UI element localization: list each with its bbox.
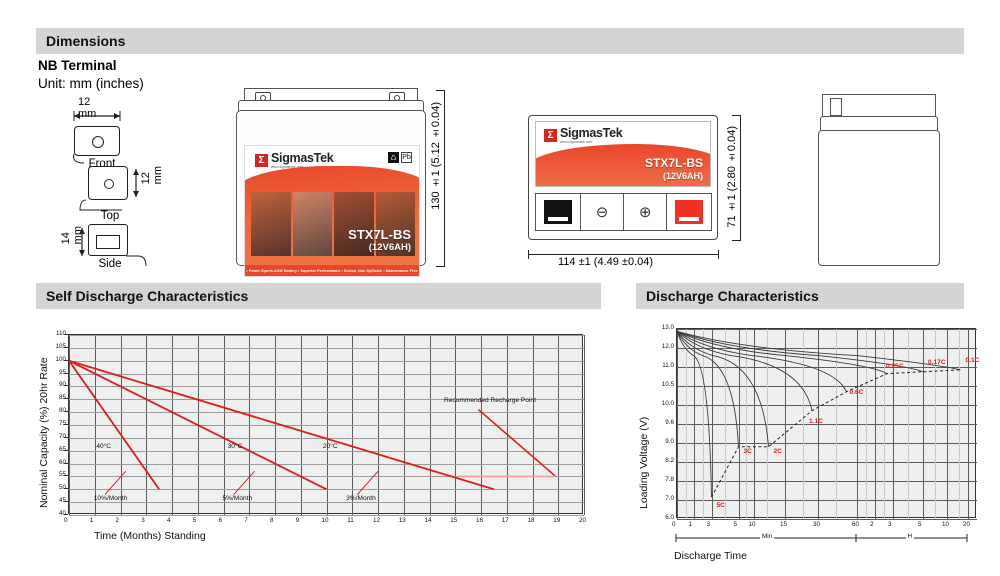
y-tick-mark [64,398,68,399]
terminal-top-hole [104,179,114,189]
discharge-ylabel: Loading Voltage (V) [638,344,650,509]
x-tick-label: 11 [347,517,354,524]
x-tick-label: 2 [116,517,120,524]
self-discharge-ylabel: Nominal Capacity (%) 20hr Rate [38,338,50,508]
top-model: STX7L-BS [645,156,703,170]
y-tick-mark [64,488,68,489]
y-tick-label: 9.0 [656,438,674,445]
top-terminal-row: ⊖ ⊕ [535,193,711,231]
x-tick-label: 4 [167,517,171,524]
rate-label-0-1C: 0.1C [966,357,980,364]
sigma-icon: Σ [255,154,268,167]
battery-model: STX7L-BS [348,227,411,242]
battery-width-label: 114 ±1 (4.49 ±0.04) [558,256,653,268]
battery-label: Σ SigmasTek www.sigmastek.com ♺ Pb STX7L… [244,145,420,277]
y-tick-label: 8.2 [656,457,674,464]
gridline-horizontal [69,515,584,516]
x-tick-label: 1 [90,517,94,524]
unit-label: Unit: mm (inches) [38,76,144,91]
self-discharge-plot-area [68,334,583,514]
chart-annotation: Recommended Recharge Point [444,397,536,404]
y-tick-mark [64,347,68,348]
x-tick-label: 60 [852,521,859,528]
terminal-top-shape [88,166,128,200]
positive-terminal-cap [675,200,703,224]
x-tick-label: 15 [780,521,787,528]
battery-depth-label: 71 ±1 (2.80 ±0.04) [726,126,738,228]
terminal-side-label: Side [88,258,132,270]
battery-capacity: (12V6AH) [348,243,411,254]
discharge-plot-area [676,328,976,518]
y-tick-label: 13.0 [656,324,674,331]
negative-terminal-cap-cell [535,193,581,231]
y-tick-mark [64,514,68,515]
y-tick-label: 7.0 [656,495,674,502]
battery-top-view: Σ SigmasTek www.sigmastek.com STX7L-BS (… [528,115,718,240]
x-tick-label: 3 [141,517,145,524]
time-scale-label: Min [760,533,774,540]
x-tick-label: 12 [373,517,380,524]
battery-side-view [818,88,940,266]
x-tick-label: 5 [734,521,738,528]
nb-terminal-title: NB Terminal [38,58,117,73]
negative-terminal-cap [544,200,572,224]
y-tick-label: 10.0 [656,400,674,407]
x-tick-label: 5 [918,521,922,528]
y-tick-mark [64,501,68,502]
x-tick-label: 13 [399,517,406,524]
y-tick-mark [64,424,68,425]
negative-icon: ⊖ [596,203,609,221]
y-tick-label: 12.0 [656,343,674,350]
rate-label-1-1C: 1.1C [809,418,823,425]
gridline-horizontal [677,519,977,520]
top-brand-url: www.sigmastek.com [560,140,622,144]
x-tick-label: 3 [888,521,892,528]
sigma-icon-top: Σ [544,129,557,142]
discharge-series [677,329,977,519]
self-discharge-chart: Nominal Capacity (%) 20hr Rate Time (Mon… [36,318,601,548]
rate-label-0-25C: 0.25C [886,363,904,370]
y-tick-label: 6.0 [656,514,674,521]
terminal-top-height-label: 12 mm [140,166,164,184]
rate-label-5C: 5C [717,502,725,509]
top-brand-name: SigmasTek [560,127,622,140]
chart-annotation: 10%/Month [94,495,127,502]
rate-label-0-6C: 0.6C [850,389,864,396]
positive-icon: ⊕ [639,203,652,221]
x-tick-label: 3 [707,521,711,528]
x-tick-label: 6 [219,517,223,524]
battery-height-label: 130 ±1 (5.12 ±0.04) [430,102,442,210]
time-scale-label: H [906,533,915,540]
y-tick-mark [64,360,68,361]
x-tick-label: 16 [476,517,483,524]
rate-label-2C: 2C [774,448,782,455]
x-tick-label: 18 [528,517,535,524]
x-tick-label: 1 [689,521,693,528]
x-tick-label: 0 [672,521,676,528]
battery-case: Σ SigmasTek www.sigmastek.com ♺ Pb STX7L… [236,110,426,266]
x-tick-label: 8 [270,517,274,524]
discharge-xlabel: Discharge Time [674,550,747,562]
positive-symbol-cell: ⊕ [623,193,667,231]
top-model-block: STX7L-BS (12V6AH) [645,157,703,181]
annotation-leaders [69,335,584,515]
y-tick-label: 11.0 [656,362,674,369]
discharge-chart: Loading Voltage (V) Discharge Time 13.01… [636,318,986,568]
side-terminal-nub [830,98,842,116]
chart-annotation: 30°C [228,443,243,450]
negative-symbol-cell: ⊖ [580,193,624,231]
y-tick-label: 9.6 [656,419,674,426]
y-tick-mark [64,450,68,451]
y-tick-mark [64,334,68,335]
x-tick-label: 19 [553,517,560,524]
top-capacity: (12V6AH) [645,171,703,181]
brand-url: www.sigmastek.com [271,165,333,169]
x-tick-label: 10 [749,521,756,528]
y-tick-label: 10.5 [656,381,674,388]
y-tick-mark [64,385,68,386]
photo-snowmobile [293,192,333,256]
photo-motocross [251,192,291,256]
y-tick-mark [64,463,68,464]
terminal-side-hole [96,235,120,249]
terminal-front-hole [92,136,104,148]
dimensions-section-header: Dimensions [36,28,964,54]
x-tick-label: 20 [579,517,586,524]
y-tick-mark [64,411,68,412]
x-tick-label: 5 [193,517,197,524]
top-view-label: Σ SigmasTek www.sigmastek.com STX7L-BS (… [535,121,711,187]
x-tick-label: 0 [64,517,68,524]
rate-label-0-17C: 0.17C [928,359,946,366]
x-tick-label: 17 [502,517,509,524]
self-discharge-section-header: Self Discharge Characteristics [36,283,601,309]
terminal-top-label: Top [88,210,132,222]
top-brand-logo: Σ SigmasTek www.sigmastek.com [544,127,622,144]
discharge-section-header: Discharge Characteristics [636,283,964,309]
x-tick-label: 14 [425,517,432,524]
x-tick-label: 10 [322,517,329,524]
terminal-side-shape [88,224,128,256]
rate-label-3C: 3C [744,448,752,455]
chart-annotation: 40°C [96,443,111,450]
lead-pb-icon: Pb [401,152,412,163]
x-tick-label: 10 [942,521,949,528]
x-tick-label: 15 [450,517,457,524]
x-tick-label: 2 [870,521,874,528]
positive-terminal-cap-cell [666,193,712,231]
y-tick-mark [64,437,68,438]
recycle-badges: ♺ Pb [388,152,412,163]
chart-annotation: 3%/Month [346,495,376,502]
battery-footer-text: • Power Sports AGM Battery • Superior Pe… [245,265,419,276]
x-tick-label: 30 [813,521,820,528]
brand-name: SigmasTek [271,152,333,165]
chart-annotation: 20°C [323,443,338,450]
x-tick-label: 7 [244,517,248,524]
y-tick-label: 7.8 [656,476,674,483]
y-tick-mark [64,475,68,476]
chart-annotation: 5%/Month [223,495,253,502]
self-discharge-xlabel: Time (Months) Standing [94,530,206,542]
side-body [818,130,940,266]
brand-logo: Σ SigmasTek www.sigmastek.com [255,152,333,169]
x-tick-label: 20 [963,521,970,528]
recycle-icon: ♺ [388,152,399,163]
gridline-vertical [584,335,585,515]
battery-model-block: STX7L-BS (12V6AH) [348,228,411,254]
battery-front-view: Σ SigmasTek www.sigmastek.com ♺ Pb STX7L… [236,88,426,266]
y-tick-mark [64,373,68,374]
x-tick-label: 9 [296,517,300,524]
terminal-front-shape [74,126,120,156]
time-scale-bars [676,532,986,548]
